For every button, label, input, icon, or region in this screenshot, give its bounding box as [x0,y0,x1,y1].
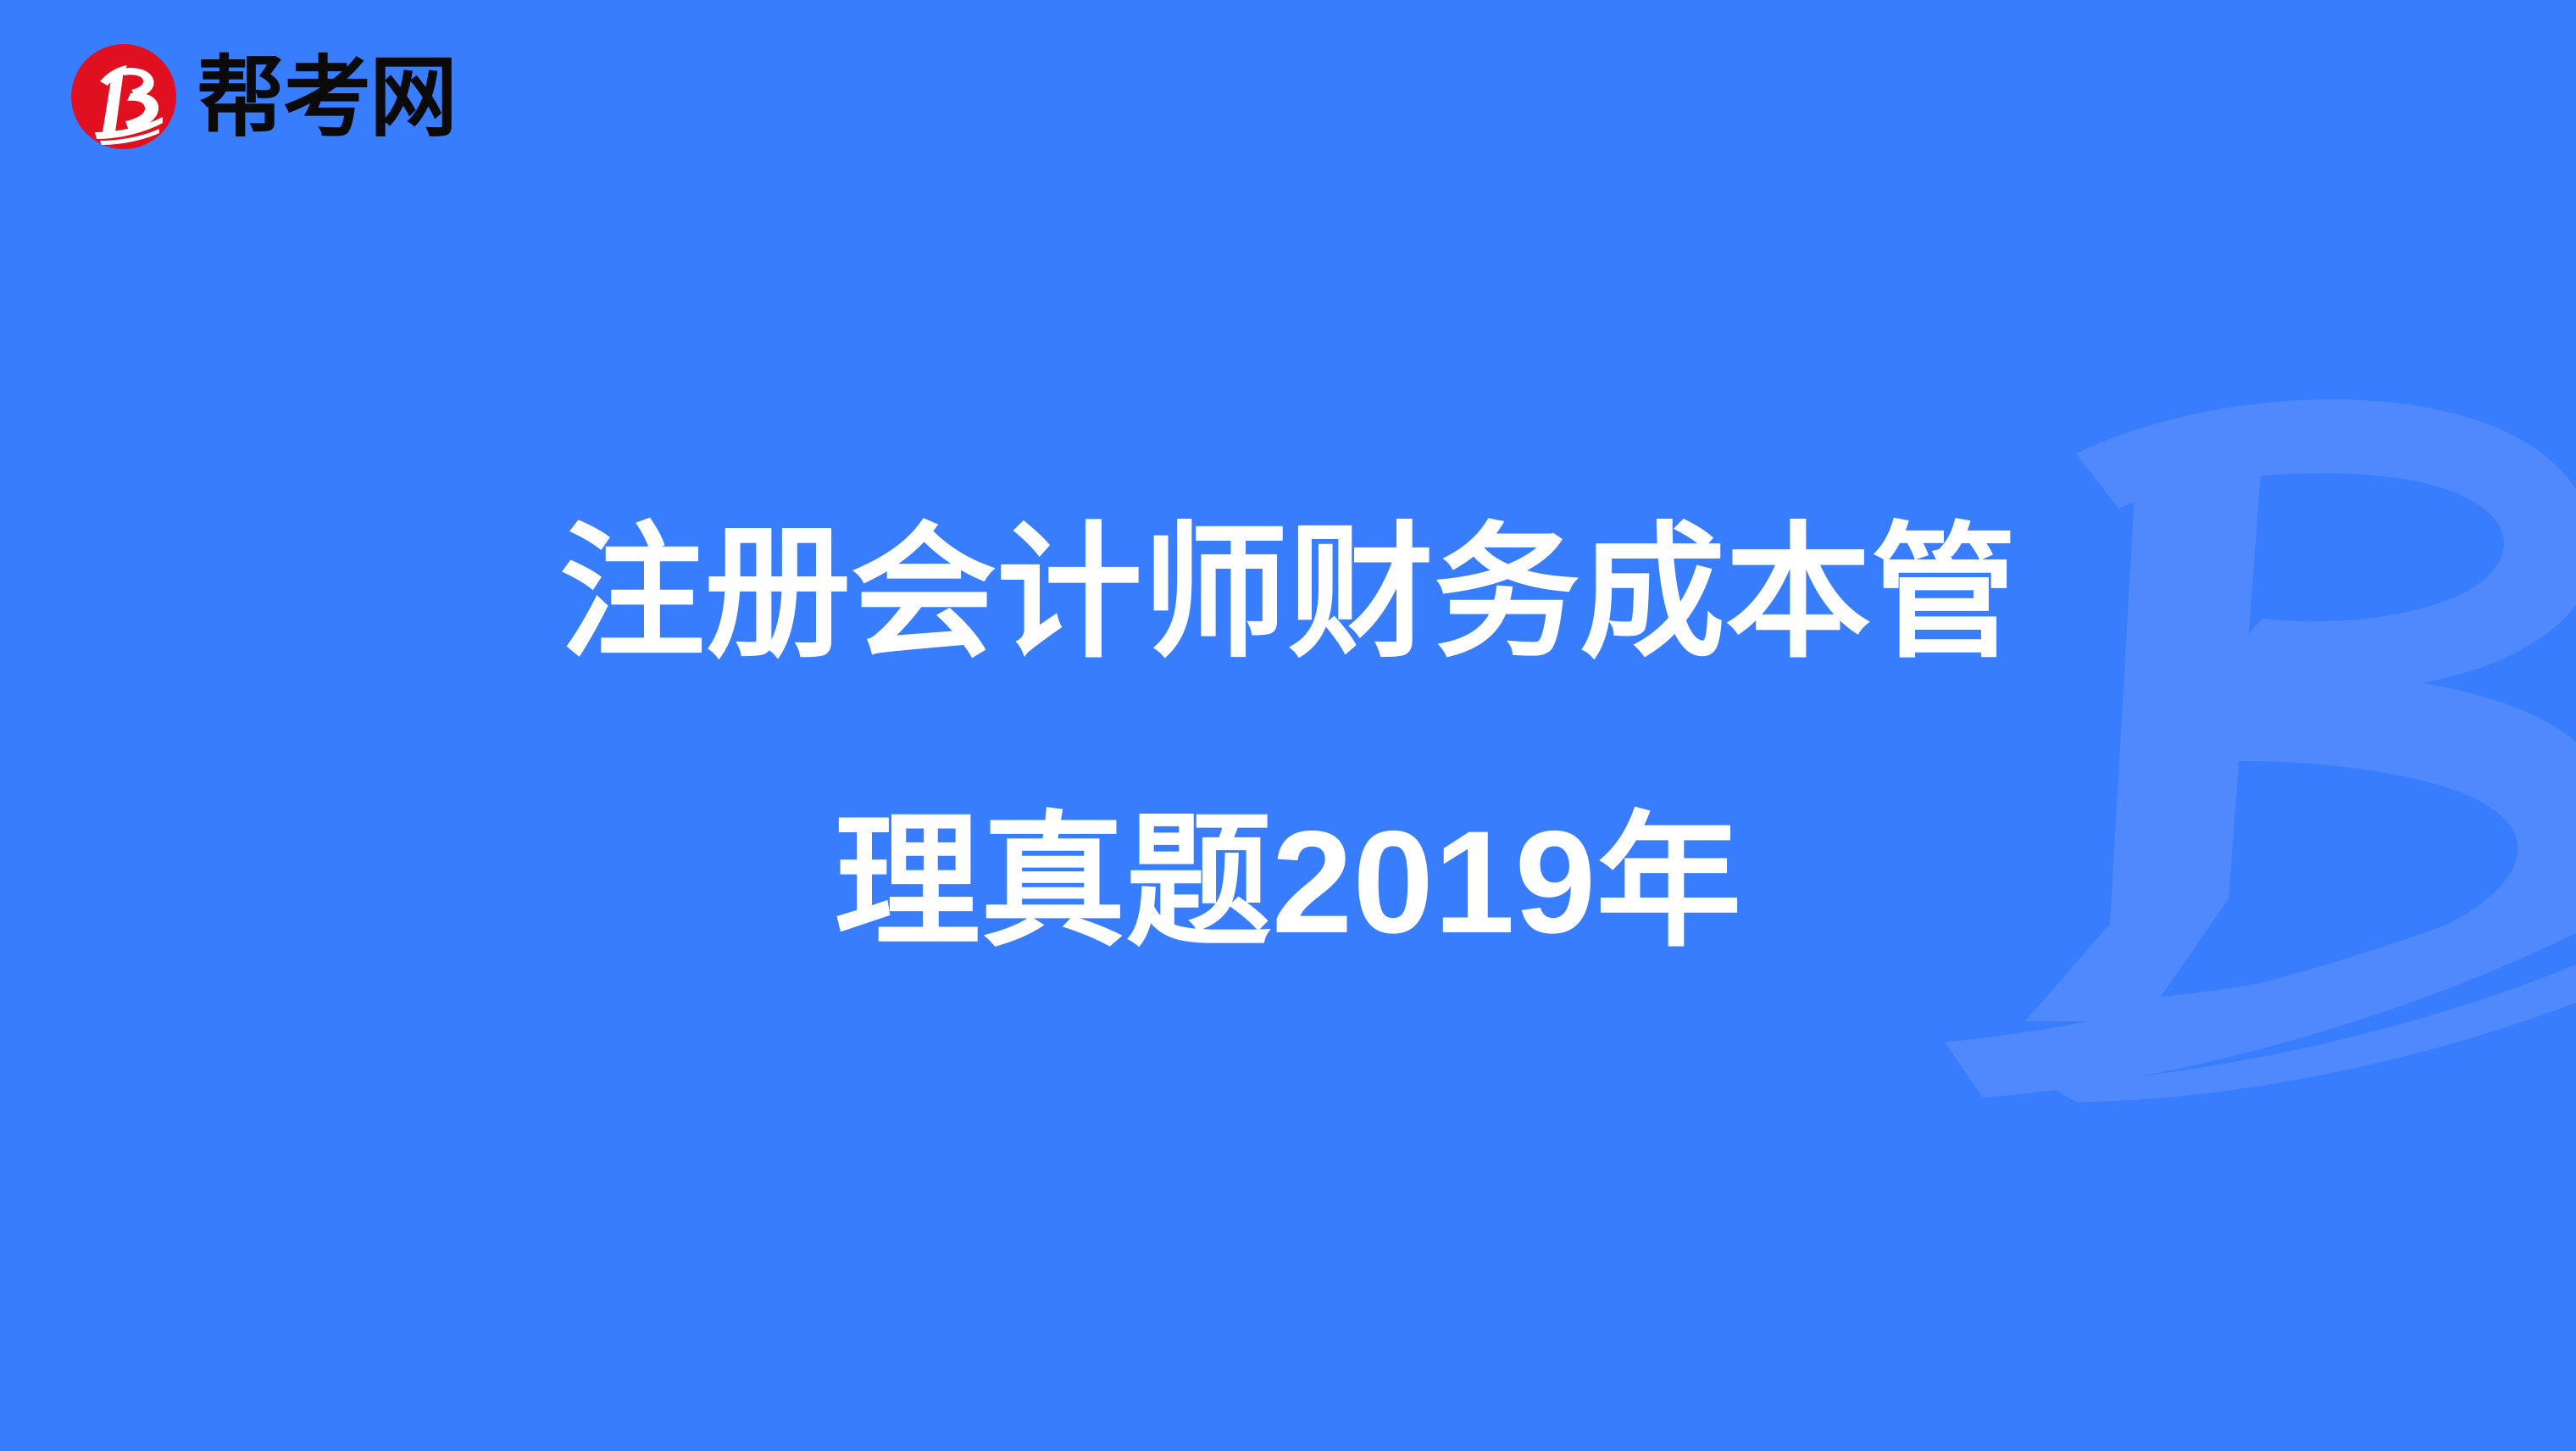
page-title-line-1: 注册会计师财务成本管 [559,449,2017,738]
page-title-line-2: 理真题2019年 [835,738,1742,1027]
cover-canvas: 帮考网 注册会计师财务成本管 理真题2019年 [0,0,2576,1451]
page-title: 注册会计师财务成本管 理真题2019年 [0,0,2576,1451]
